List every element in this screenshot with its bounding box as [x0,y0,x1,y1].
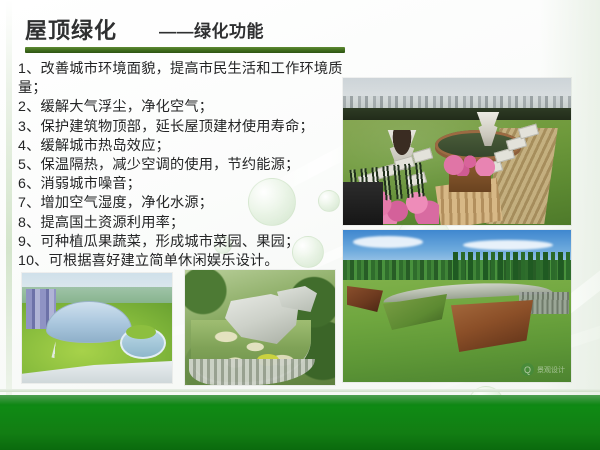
watermark-logo-icon: Q [521,363,534,376]
left-accent-rail [6,0,12,450]
right-gradient-wash [540,0,600,450]
image-watermark: Q 景观设计 [521,363,565,376]
function-list: 1、改善城市环境面貌，提高市民生活和工作环境质量； 2、缓解大气浮尘，净化空气；… [18,60,348,271]
photo-cloud [463,240,553,250]
image-greenroof-complex [22,273,172,383]
list-item: 3、保护建筑物顶部，延长屋顶建材使用寿命； [18,118,348,137]
list-item: 10、可根据喜好建立简单休闲娱乐设计。 [18,252,348,271]
image-rooftop-garden [343,78,571,225]
list-item: 5、保温隔热，减少空调的使用，节约能源； [18,156,348,175]
image-terraced-roof-garden [185,270,335,385]
presentation-slide: 屋顶绿化 ——绿化功能 1、改善城市环境面貌，提高市民生活和工作环境质量； 2、… [0,0,600,450]
page-subtitle: ——绿化功能 [159,20,264,44]
title-underline [25,47,345,53]
list-item: 9、可种植瓜果蔬菜，形成城市菜园、果园； [18,233,348,252]
watermark-label: 景观设计 [537,365,565,375]
list-item: 7、增加空气湿度，净化水源； [18,194,348,213]
list-item: 2、缓解大气浮尘，净化空气； [18,98,348,117]
photo-cloud [353,236,423,248]
footer-bar [0,395,600,450]
photo-shrub-mass [343,328,493,382]
list-item: 4、缓解城市热岛效应； [18,137,348,156]
footer-gloss [0,395,600,405]
photo-round-building-roof-garden [126,325,156,339]
photo-pink-flowers [443,154,497,176]
list-item: 1、改善城市环境面貌，提高市民生活和工作环境质量； [18,60,348,98]
footer-divider [0,389,600,392]
page-title: 屋顶绿化 [25,18,117,44]
photo-foreground-block [343,182,383,225]
list-item: 6、消弱城市噪音； [18,175,348,194]
slide-title-block: 屋顶绿化 ——绿化功能 [25,14,350,53]
image-landform-rendering: Q 景观设计 [343,230,571,382]
list-item: 8、提高国土资源利用率； [18,214,348,233]
